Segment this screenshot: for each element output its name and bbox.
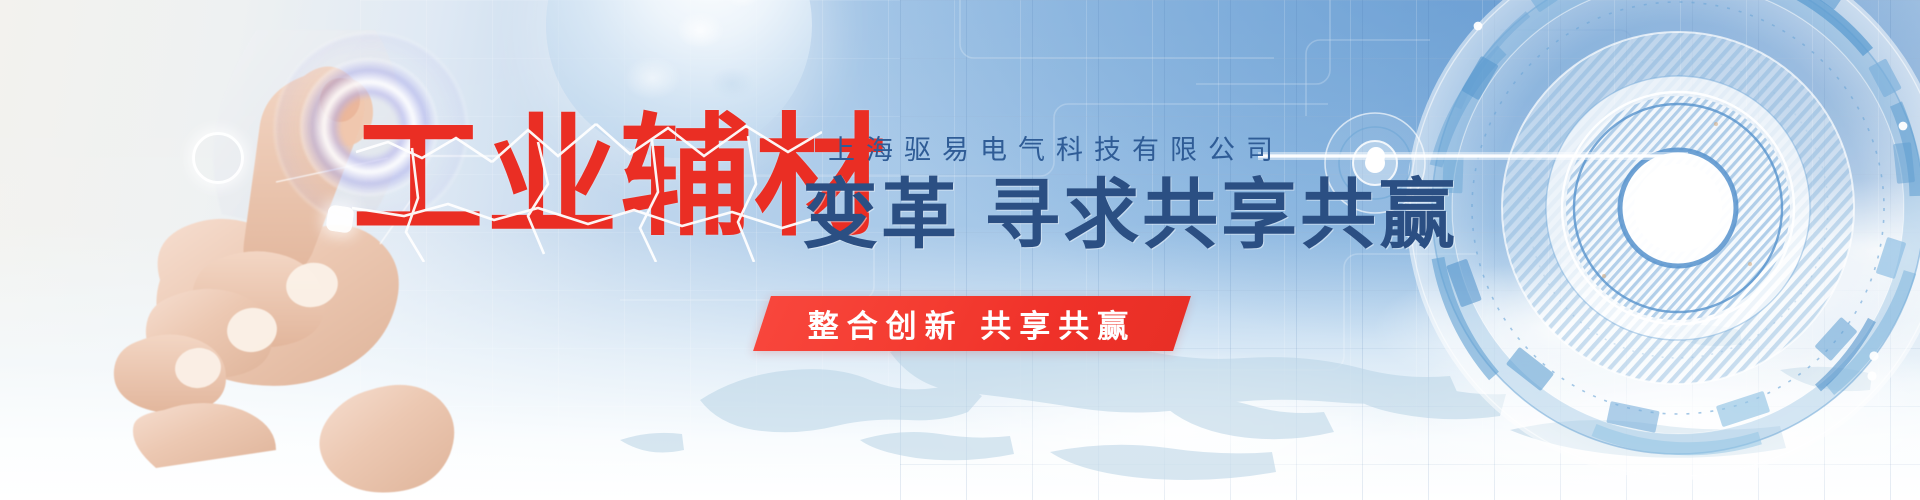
hud-node-square (325, 204, 354, 233)
tech-circle-hud (1398, 0, 1920, 488)
company-name: 上海驱易电气科技有限公司 (828, 128, 1284, 167)
hero-banner: 工业辅材 上海驱易电气科技有限公司 变革 寻求共享共赢 整合创新 共享共赢 (0, 0, 1920, 500)
hud-node-ring (192, 132, 244, 184)
slogan-ribbon: 整合创新 共享共赢 (753, 296, 1191, 351)
slogan-ribbon-text: 整合创新 共享共赢 (762, 296, 1182, 351)
banner-headline: 变革 寻求共享共赢 (802, 178, 1458, 254)
